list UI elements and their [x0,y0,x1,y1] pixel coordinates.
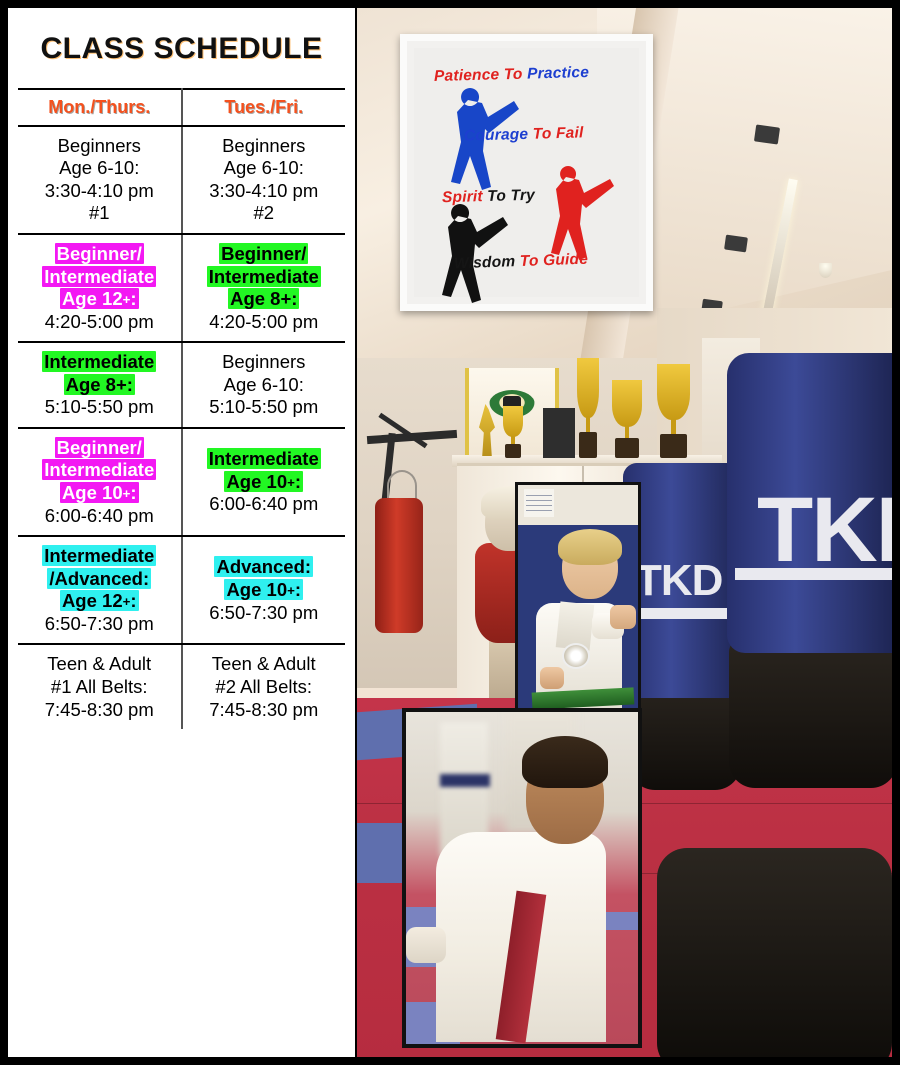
black-speaker-box [543,408,575,458]
class-cell-mon-0: Beginners Age 6-10: 3:30-4:10 pm #1 [18,126,182,234]
ceiling-vent-icon [754,124,780,144]
table-row: Beginners Age 6-10: 3:30-4:10 pm #1 Begi… [18,126,345,234]
table-row: Beginner/ Intermediate Age 10+: 6:00-6:4… [18,428,345,536]
column-header-monday-thursday: Mon./Thurs. [18,89,182,126]
class-cell-mon-1: Beginner/ Intermediate Age 12+: 4:20-5:0… [18,234,182,342]
table-header-row: Mon./Thurs. Tues./Fri. [18,89,345,126]
dojo-photo: TK TKD TKD [357,8,892,1057]
proverb-poster: Patience To Practice Courage To Fail Spi… [400,34,653,311]
schedule-table: Mon./Thurs. Tues./Fri. Beginners Age 6-1… [18,88,345,729]
inset-photo-blond-student [515,482,641,713]
class-cell-mon-2: Intermediate Age 8+: 5:10-5:50 pm [18,342,182,428]
class-cell-mon-4: Intermediate /Advanced: Age 12+: 6:50-7:… [18,536,182,644]
class-cell-tue-1: Beginner/ Intermediate Age 8+: 4:20-5:00… [182,234,346,342]
proverb-line-3: Spirit To Try [442,187,535,207]
trophy [503,406,523,458]
table-row: Teen & Adult #1 All Belts: 7:45-8:30 pm … [18,644,345,729]
class-cell-tue-5: Teen & Adult #2 All Belts: 7:45-8:30 pm [182,644,346,729]
class-schedule-flyer: CLASS SCHEDULE Mon./Thurs. Tues./Fri. Be… [0,0,900,1065]
class-cell-tue-3: Intermediate Age 10+: 6:00-6:40 pm [182,428,346,536]
proverb-poster-inner: Patience To Practice Courage To Fail Spi… [414,48,639,297]
column-header-tuesday-friday: Tues./Fri. [182,89,346,126]
trophy [577,358,599,458]
table-row: Intermediate Age 8+: 5:10-5:50 pm Beginn… [18,342,345,428]
inset-photo-red-belt-student [402,708,642,1048]
proverb-line-4: Wisdom To Guide [454,251,589,274]
class-cell-tue-2: Beginners Age 6-10: 5:10-5:50 pm [182,342,346,428]
red-heavy-bag [375,498,423,633]
trophy [612,380,642,458]
page-title: CLASS SCHEDULE [8,34,355,64]
schedule-pane: CLASS SCHEDULE Mon./Thurs. Tues./Fri. Be… [8,8,355,1057]
proverb-line-1: Patience To Practice [434,64,589,86]
trophy [657,364,690,458]
table-row: Beginner/ Intermediate Age 12+: 4:20-5:0… [18,234,345,342]
pendant-light [819,263,832,278]
ceiling-vent-icon [724,235,748,253]
bag-label: TKD [635,556,722,606]
bag-label: TKD [757,478,892,583]
proverb-line-2: Courage To Fail [464,124,584,145]
class-cell-tue-4: Advanced: Age 10+: 6:50-7:30 pm [182,536,346,644]
class-cell-mon-5: Teen & Adult #1 All Belts: 7:45-8:30 pm [18,644,182,729]
bag-base-foreground [657,848,892,1057]
class-cell-tue-0: Beginners Age 6-10: 3:30-4:10 pm #2 [182,126,346,234]
class-cell-mon-3: Beginner/ Intermediate Age 10+: 6:00-6:4… [18,428,182,536]
table-row: Intermediate /Advanced: Age 12+: 6:50-7:… [18,536,345,644]
